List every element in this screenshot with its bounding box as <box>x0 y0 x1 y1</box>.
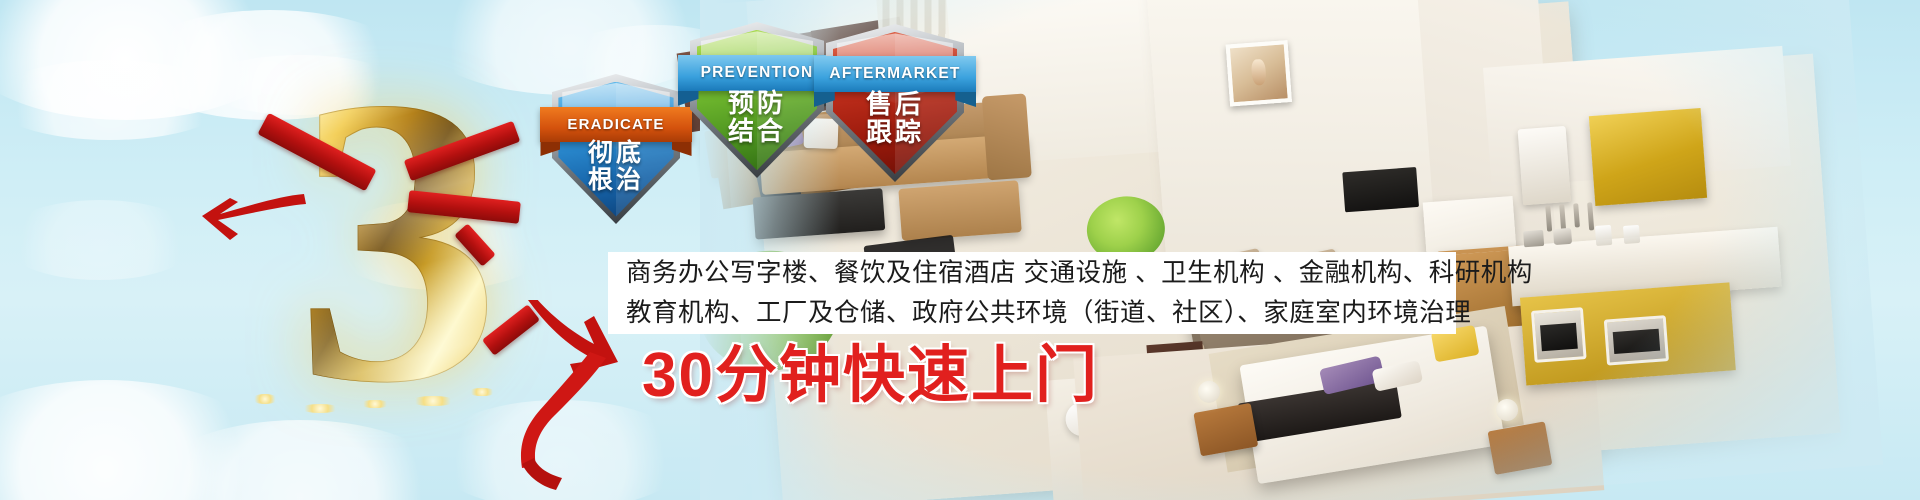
badge-chinese-text: 预防 结合 <box>690 89 824 145</box>
service-scope-line-2: 教育机构、工厂及仓储、政府公共环境（街道、社区）、家庭室内环境治理 <box>626 293 1438 333</box>
kitchen-upper-cabinet <box>1589 108 1707 206</box>
built-in-oven <box>1604 315 1669 365</box>
promo-banner: 3 3 商务办公写字楼、餐饮及住宿酒店 交通设施 、卫生机构 、金融机构、科研机… <box>0 0 1920 500</box>
range-hood <box>1518 126 1571 205</box>
glass-container <box>1595 225 1612 246</box>
badge-chinese-text: 售后 跟踪 <box>826 90 964 146</box>
built-in-oven <box>1531 307 1587 363</box>
badge-chinese-text: 彻底 根治 <box>552 140 680 194</box>
glass-container <box>1623 225 1640 244</box>
badge-aftermarket: AFTERMARKET 售后 跟踪 <box>826 24 964 182</box>
badge-chinese-line-2: 根治 <box>552 167 680 194</box>
badge-chinese-line-2: 结合 <box>690 117 824 145</box>
badge-chinese-line-1: 彻底 <box>552 140 680 167</box>
sofa-armrest <box>982 93 1032 180</box>
service-scope-line-1: 商务办公写字楼、餐饮及住宿酒店 交通设施 、卫生机构 、金融机构、科研机构 <box>626 253 1438 293</box>
badge-chinese-line-2: 跟踪 <box>826 118 964 146</box>
badge-english-banner: AFTERMARKET <box>814 56 977 92</box>
cloud-shape <box>0 200 200 280</box>
partition-wall <box>1146 0 1467 282</box>
ottoman <box>898 180 1021 241</box>
headline-text: 30分钟快速上门 <box>642 345 1099 407</box>
badge-english-banner: ERADICATE <box>540 107 691 142</box>
badge-chinese-line-1: 预防 <box>690 89 824 117</box>
cloud-shape <box>0 60 230 140</box>
badge-eradicate: ERADICATE 彻底 根治 <box>552 74 680 224</box>
kitchen-faucet <box>1523 230 1544 247</box>
service-scope-panel: 商务办公写字楼、餐饮及住宿酒店 交通设施 、卫生机构 、金融机构、科研机构 教育… <box>608 252 1456 334</box>
ribbon-arrow-left-icon <box>200 190 310 246</box>
badge-prevention: PREVENTION 预防 结合 <box>690 22 824 178</box>
badge-english-banner: PREVENTION <box>678 55 836 91</box>
cooking-pot <box>1553 228 1572 245</box>
badge-chinese-line-1: 售后 <box>826 90 964 118</box>
portrait-painting <box>1226 40 1292 106</box>
tv-panel <box>1342 167 1419 212</box>
